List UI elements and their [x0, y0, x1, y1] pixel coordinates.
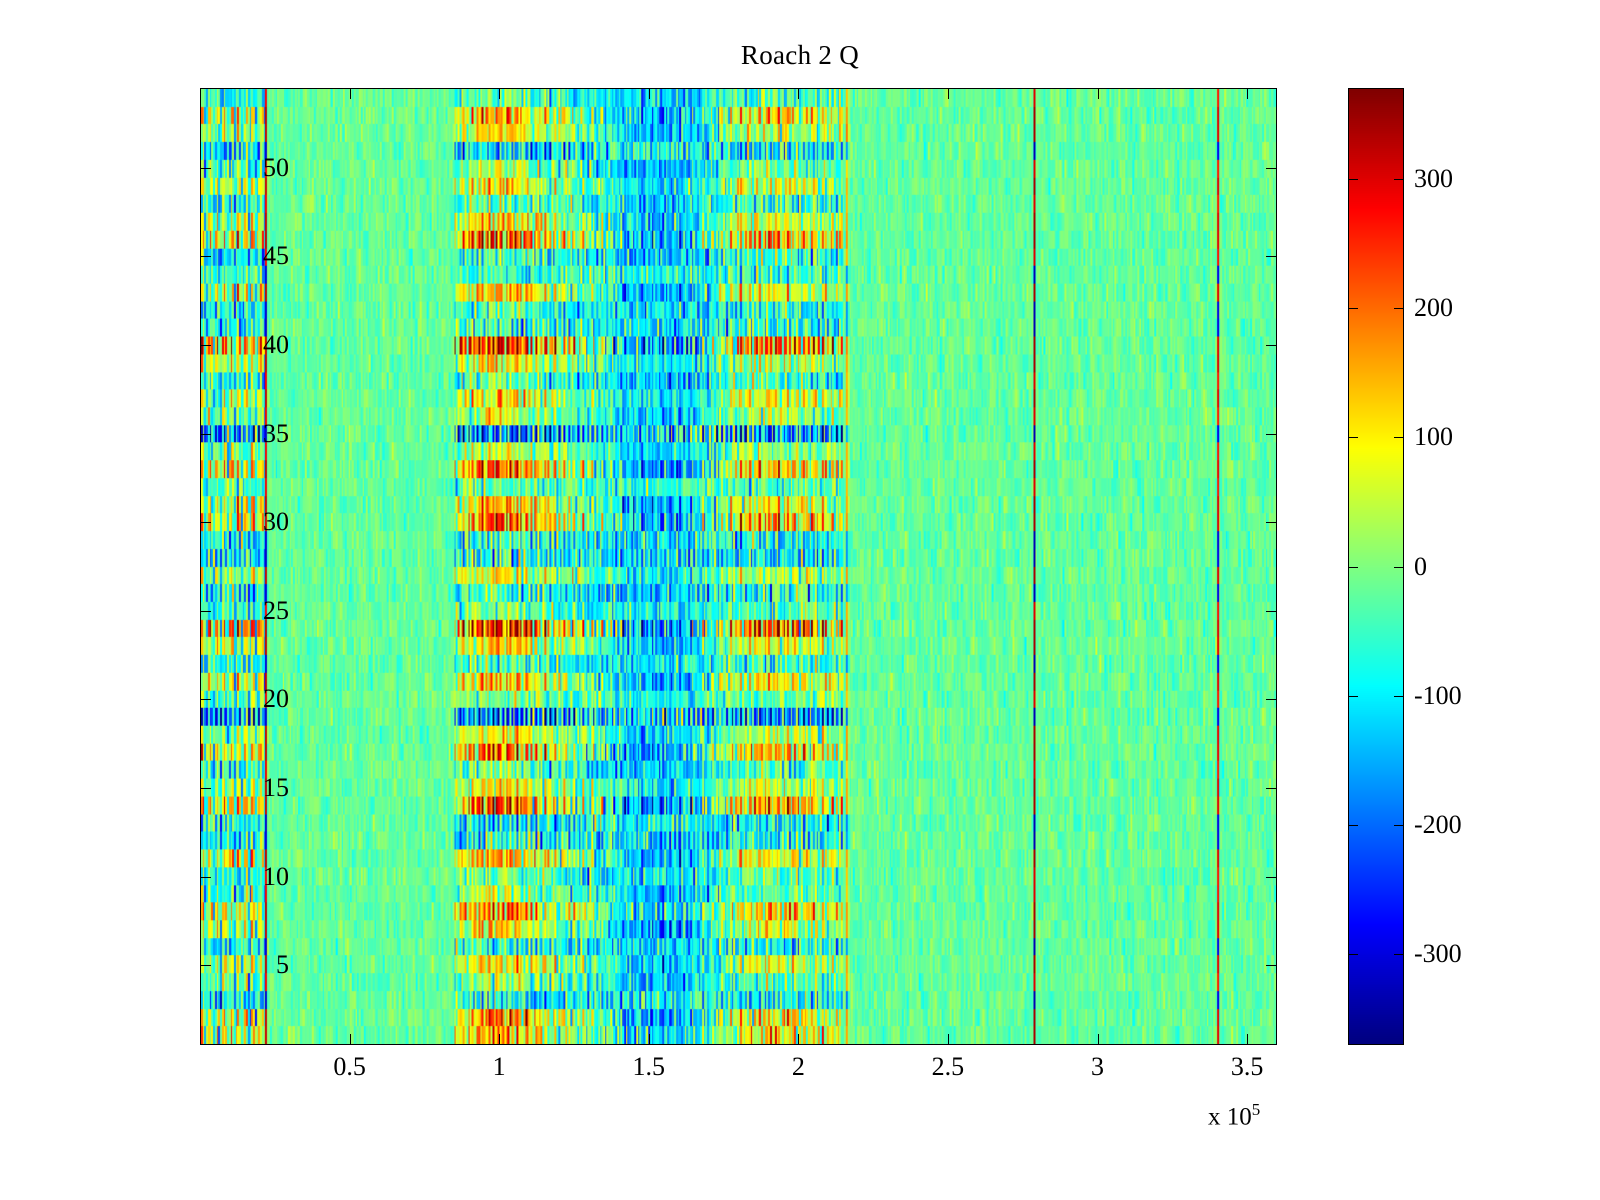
x-axis-tick-label: 2.5 — [888, 1054, 1008, 1080]
y-axis-tick — [1266, 611, 1277, 612]
y-axis-tick — [1266, 877, 1277, 878]
x-axis-tick — [798, 1034, 799, 1045]
y-axis-tick — [200, 611, 211, 612]
y-axis-tick — [200, 168, 211, 169]
y-axis-tick-label: 15 — [263, 775, 289, 801]
x-axis-tick-label: 1.5 — [589, 1054, 709, 1080]
y-axis-tick — [200, 699, 211, 700]
x-axis-tick — [1247, 1034, 1248, 1045]
y-axis-tick-label: 5 — [276, 952, 289, 978]
colorbar-tick-label: 100 — [1414, 424, 1453, 450]
y-axis-tick-label: 20 — [263, 686, 289, 712]
colorbar-tick — [1394, 308, 1404, 309]
y-axis-tick — [200, 256, 211, 257]
x-axis-exponent-power: 5 — [1252, 1100, 1261, 1119]
x-axis-tick — [798, 88, 799, 99]
colorbar-tick — [1348, 696, 1358, 697]
y-axis-tick-label: 25 — [263, 598, 289, 624]
y-axis-tick — [1266, 168, 1277, 169]
y-axis-tick — [200, 345, 211, 346]
x-axis-exponent-base: x 10 — [1208, 1103, 1252, 1130]
x-axis-tick — [1098, 1034, 1099, 1045]
heatmap-image — [201, 89, 1276, 1044]
x-axis-tick-label: 1 — [439, 1054, 559, 1080]
colorbar-tick — [1394, 567, 1404, 568]
page-title: Roach 2 Q — [0, 40, 1600, 71]
y-axis-tick-label: 45 — [263, 243, 289, 269]
x-axis-tick — [1247, 88, 1248, 99]
y-axis-tick-label: 35 — [263, 421, 289, 447]
x-axis-tick-label: 2 — [738, 1054, 858, 1080]
colorbar-tick — [1348, 954, 1358, 955]
x-axis-tick-label: 3.5 — [1187, 1054, 1307, 1080]
colorbar-tick — [1348, 308, 1358, 309]
y-axis-tick — [1266, 699, 1277, 700]
x-axis-tick — [499, 1034, 500, 1045]
y-axis-tick-label: 10 — [263, 864, 289, 890]
colorbar-tick — [1348, 179, 1358, 180]
y-axis-tick — [200, 434, 211, 435]
colorbar-tick — [1394, 179, 1404, 180]
colorbar-tick — [1394, 437, 1404, 438]
x-axis-tick — [649, 88, 650, 99]
x-axis-tick — [350, 88, 351, 99]
x-axis-tick — [1098, 88, 1099, 99]
heatmap-axes[interactable] — [200, 88, 1277, 1045]
colorbar-tick — [1394, 696, 1404, 697]
y-axis-tick — [1266, 434, 1277, 435]
y-axis-tick-label: 30 — [263, 509, 289, 535]
x-axis-tick-label: 0.5 — [290, 1054, 410, 1080]
y-axis-tick-label: 50 — [263, 155, 289, 181]
x-axis-tick — [499, 88, 500, 99]
y-axis-tick — [1266, 965, 1277, 966]
colorbar-tick-label: 300 — [1414, 166, 1453, 192]
x-axis-tick-label: 3 — [1038, 1054, 1158, 1080]
colorbar-tick — [1348, 825, 1358, 826]
x-axis-exponent: x 105 — [1208, 1100, 1260, 1131]
x-axis-tick — [948, 1034, 949, 1045]
colorbar-tick — [1394, 954, 1404, 955]
y-axis-tick-label: 40 — [263, 332, 289, 358]
colorbar-tick-label: -200 — [1414, 812, 1462, 838]
x-axis-tick — [948, 88, 949, 99]
colorbar-tick-label: -300 — [1414, 941, 1462, 967]
colorbar-tick — [1348, 437, 1358, 438]
x-axis-tick — [649, 1034, 650, 1045]
y-axis-tick — [200, 965, 211, 966]
colorbar-tick-label: -100 — [1414, 683, 1462, 709]
y-axis-tick — [1266, 788, 1277, 789]
y-axis-tick — [1266, 345, 1277, 346]
colorbar-tick — [1348, 567, 1358, 568]
y-axis-tick — [200, 877, 211, 878]
x-axis-tick — [350, 1034, 351, 1045]
figure-root: Roach 2 Q 5101520253035404550 0.511.522.… — [0, 0, 1600, 1200]
y-axis-tick — [200, 522, 211, 523]
y-axis-tick — [1266, 256, 1277, 257]
colorbar-tick-label: 0 — [1414, 554, 1427, 580]
colorbar-tick — [1394, 825, 1404, 826]
y-axis-tick — [1266, 522, 1277, 523]
y-axis-tick — [200, 788, 211, 789]
colorbar-tick-label: 200 — [1414, 295, 1453, 321]
